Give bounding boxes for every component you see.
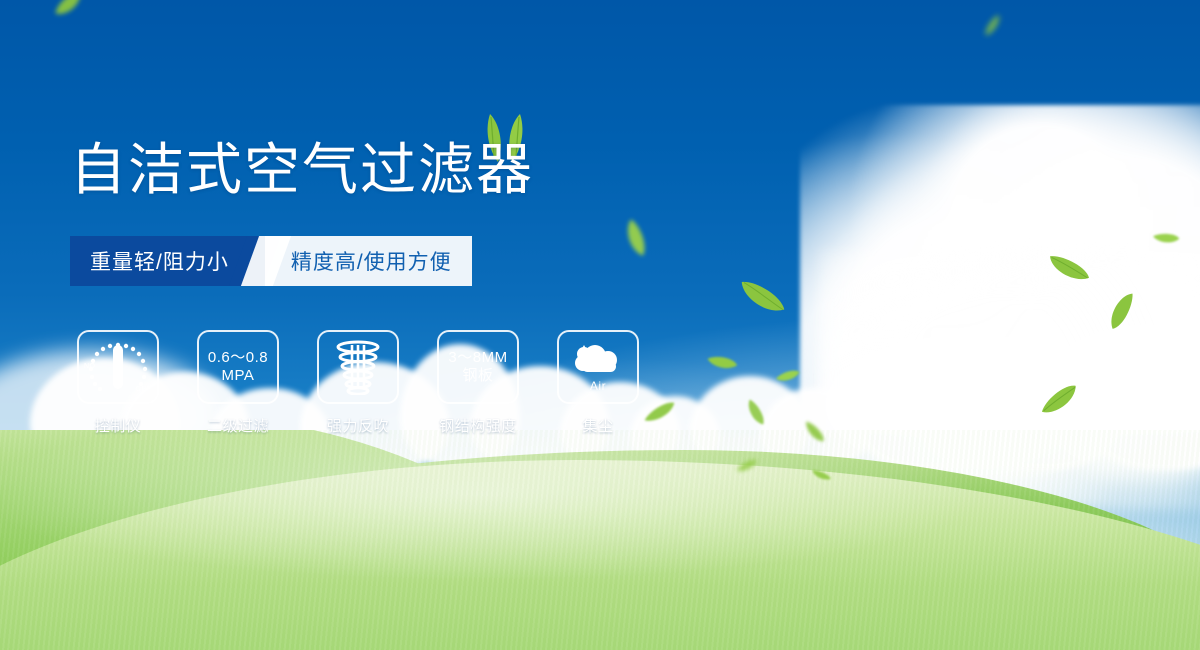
pressure-range-text: 0.6～0.8 [208,349,268,367]
feature-icon-box: Air [557,330,639,404]
feature-item-two-stage-filter[interactable]: 0.6～0.8 MPA 二级过滤 [190,330,286,436]
gauge-icon: NO OFF [85,337,151,397]
subtitle-segment-left: 重量轻/阻力小 [70,236,255,286]
feature-item-steel-strength[interactable]: 3～8MM 钢板 钢结构强度 [430,330,526,436]
subtitle-bar: 重量轻/阻力小 精度高/使用方便 [70,236,472,286]
feature-icon-box: 0.6～0.8 MPA [197,330,279,404]
feature-list: NO OFF 控制仪 0.6～0.8 MPA 二级过滤 [70,330,646,436]
gauge-on-label: NO [84,363,96,370]
feature-label: 钢结构强度 [439,415,517,436]
feature-item-controller[interactable]: NO OFF 控制仪 [70,330,166,436]
feature-label: 强力反吹 [327,415,389,436]
gauge-needle [113,345,123,389]
subtitle-left-text: 重量轻/阻力小 [90,246,229,276]
subtitle-right-text: 精度高/使用方便 [291,246,452,276]
cloud-icon [570,341,626,377]
subtitle-segment-right: 精度高/使用方便 [265,236,472,286]
pressure-unit-text: MPA [222,367,255,385]
feature-item-dust-collection[interactable]: Air 集尘 [550,330,646,436]
feature-icon-box: NO OFF [77,330,159,404]
feature-label: 集尘 [582,415,613,436]
page-title: 自洁式空气过滤器 [70,142,534,198]
steel-thickness-text: 3～8MM [448,349,507,367]
feature-label: 控制仪 [95,415,142,436]
feature-label: 二级过滤 [207,415,269,436]
feature-item-blowback[interactable]: 强力反吹 [310,330,406,436]
steel-plate-text: 钢板 [462,367,493,385]
feature-icon-box: 3～8MM 钢板 [437,330,519,404]
coil-airflow-icon [331,339,385,395]
feature-icon-box [317,330,399,404]
gauge-off-label: OFF [136,386,152,393]
air-text: Air [590,379,606,393]
air-filter-promo-banner: 自洁式空气过滤器 重量轻/阻力小 精度高/使用方便 [0,0,1200,650]
